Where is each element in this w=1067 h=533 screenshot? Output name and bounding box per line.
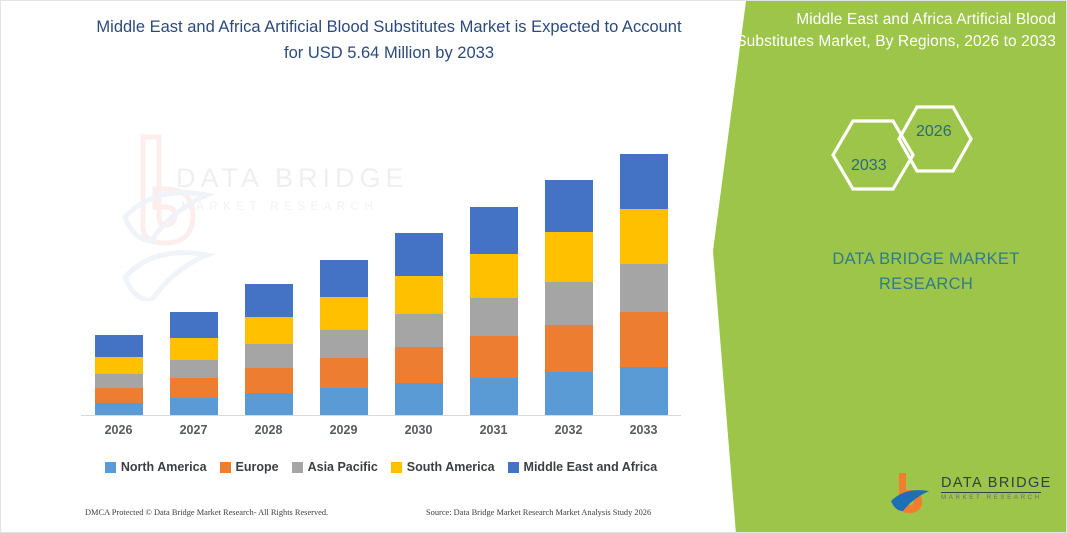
x-tick-2029: 2029 — [314, 423, 374, 437]
hexagon-label-start-year: 2033 — [851, 157, 887, 175]
bar-2031[interactable] — [470, 207, 518, 416]
footer-copyright: DMCA Protected © Data Bridge Market Rese… — [85, 508, 328, 517]
x-axis-tick-labels: 20262027202820292030203120322033 — [81, 423, 681, 445]
bar-2029[interactable] — [320, 260, 368, 416]
legend-label: Europe — [236, 460, 279, 474]
bar-segment-2031-middle-east-and-africa[interactable] — [470, 207, 518, 254]
bar-segment-2026-asia-pacific[interactable] — [95, 374, 143, 388]
legend-swatch — [292, 462, 303, 473]
bar-chart-plot-area — [81, 111, 681, 416]
x-tick-2031: 2031 — [464, 423, 524, 437]
bar-segment-2032-south-america[interactable] — [545, 232, 593, 282]
legend-label: South America — [407, 460, 495, 474]
hexagon-icons — [811, 99, 1001, 211]
footer-source: Source: Data Bridge Market Research Mark… — [426, 508, 651, 517]
bar-segment-2027-north-america[interactable] — [170, 398, 218, 416]
x-axis-line — [81, 415, 681, 416]
bar-segment-2033-europe[interactable] — [620, 312, 668, 367]
bar-segment-2029-north-america[interactable] — [320, 388, 368, 416]
bar-segment-2033-middle-east-and-africa[interactable] — [620, 154, 668, 209]
bar-segment-2032-asia-pacific[interactable] — [545, 282, 593, 325]
logo-subtitle: MARKET RESEARCH — [941, 494, 1052, 501]
bar-segment-2028-asia-pacific[interactable] — [245, 344, 293, 367]
x-tick-2033: 2033 — [614, 423, 674, 437]
infographic-canvas: 2033 2026 Middle East and Africa Artific… — [0, 0, 1067, 533]
data-bridge-mark-icon — [889, 471, 941, 517]
bar-segment-2032-middle-east-and-africa[interactable] — [545, 180, 593, 232]
logo-divider — [941, 492, 1041, 493]
legend-swatch — [105, 462, 116, 473]
legend-swatch — [220, 462, 231, 473]
bar-2026[interactable] — [95, 335, 143, 416]
chart-legend: North AmericaEuropeAsia PacificSouth Ame… — [81, 456, 681, 478]
bar-segment-2029-south-america[interactable] — [320, 297, 368, 330]
bar-segment-2033-north-america[interactable] — [620, 367, 668, 416]
legend-label: Middle East and Africa — [524, 460, 658, 474]
legend-swatch — [391, 462, 402, 473]
bar-segment-2030-south-america[interactable] — [395, 276, 443, 315]
legend-item-middle-east-and-africa[interactable]: Middle East and Africa — [508, 460, 658, 474]
bar-segment-2026-europe[interactable] — [95, 388, 143, 403]
legend-item-asia-pacific[interactable]: Asia Pacific — [292, 460, 378, 474]
bar-segment-2030-middle-east-and-africa[interactable] — [395, 233, 443, 276]
bar-segment-2027-middle-east-and-africa[interactable] — [170, 312, 218, 338]
bar-segment-2030-north-america[interactable] — [395, 383, 443, 416]
legend-item-south-america[interactable]: South America — [391, 460, 495, 474]
bar-2028[interactable] — [245, 284, 293, 416]
footer: DMCA Protected © Data Bridge Market Rese… — [81, 508, 681, 526]
bar-segment-2028-europe[interactable] — [245, 368, 293, 393]
legend-item-europe[interactable]: Europe — [220, 460, 279, 474]
bar-2033[interactable] — [620, 154, 668, 416]
bar-segment-2028-north-america[interactable] — [245, 393, 293, 416]
bar-segment-2031-europe[interactable] — [470, 336, 518, 378]
bar-segment-2032-north-america[interactable] — [545, 372, 593, 416]
x-tick-2030: 2030 — [389, 423, 449, 437]
hexagon-group: 2033 2026 — [811, 99, 1001, 209]
bar-segment-2029-middle-east-and-africa[interactable] — [320, 260, 368, 297]
bar-segment-2028-south-america[interactable] — [245, 317, 293, 345]
legend-label: Asia Pacific — [308, 460, 378, 474]
panel-heading: Middle East and Africa Artificial Blood … — [736, 9, 1056, 54]
bar-2032[interactable] — [545, 180, 593, 416]
bar-segment-2033-asia-pacific[interactable] — [620, 264, 668, 313]
legend-swatch — [508, 462, 519, 473]
brand-logo: DATA BRIDGE MARKET RESEARCH — [889, 471, 1049, 517]
bar-segment-2026-south-america[interactable] — [95, 357, 143, 374]
bar-2027[interactable] — [170, 312, 218, 416]
bar-segment-2031-asia-pacific[interactable] — [470, 298, 518, 336]
bar-segment-2026-middle-east-and-africa[interactable] — [95, 335, 143, 357]
bar-segment-2031-north-america[interactable] — [470, 378, 518, 416]
x-tick-2026: 2026 — [89, 423, 149, 437]
bar-2030[interactable] — [395, 233, 443, 416]
bar-segment-2031-south-america[interactable] — [470, 254, 518, 298]
bar-segment-2028-middle-east-and-africa[interactable] — [245, 284, 293, 317]
legend-item-north-america[interactable]: North America — [105, 460, 207, 474]
bar-segment-2027-asia-pacific[interactable] — [170, 360, 218, 378]
legend-label: North America — [121, 460, 207, 474]
bar-segment-2030-europe[interactable] — [395, 347, 443, 383]
bar-segment-2032-europe[interactable] — [545, 325, 593, 373]
bar-segment-2029-europe[interactable] — [320, 358, 368, 388]
x-tick-2032: 2032 — [539, 423, 599, 437]
bar-segment-2027-south-america[interactable] — [170, 338, 218, 360]
logo-title: DATA BRIDGE — [941, 475, 1052, 491]
x-tick-2027: 2027 — [164, 423, 224, 437]
bar-segment-2030-asia-pacific[interactable] — [395, 314, 443, 347]
hexagon-label-end-year: 2026 — [916, 123, 952, 141]
bar-segment-2029-asia-pacific[interactable] — [320, 330, 368, 358]
page-title: Middle East and Africa Artificial Blood … — [89, 15, 689, 66]
bar-segment-2033-south-america[interactable] — [620, 209, 668, 264]
x-tick-2028: 2028 — [239, 423, 299, 437]
panel-brand-line: DATA BRIDGE MARKET RESEARCH — [801, 247, 1051, 297]
bar-segment-2027-europe[interactable] — [170, 378, 218, 398]
logo-text-block: DATA BRIDGE MARKET RESEARCH — [941, 475, 1052, 501]
